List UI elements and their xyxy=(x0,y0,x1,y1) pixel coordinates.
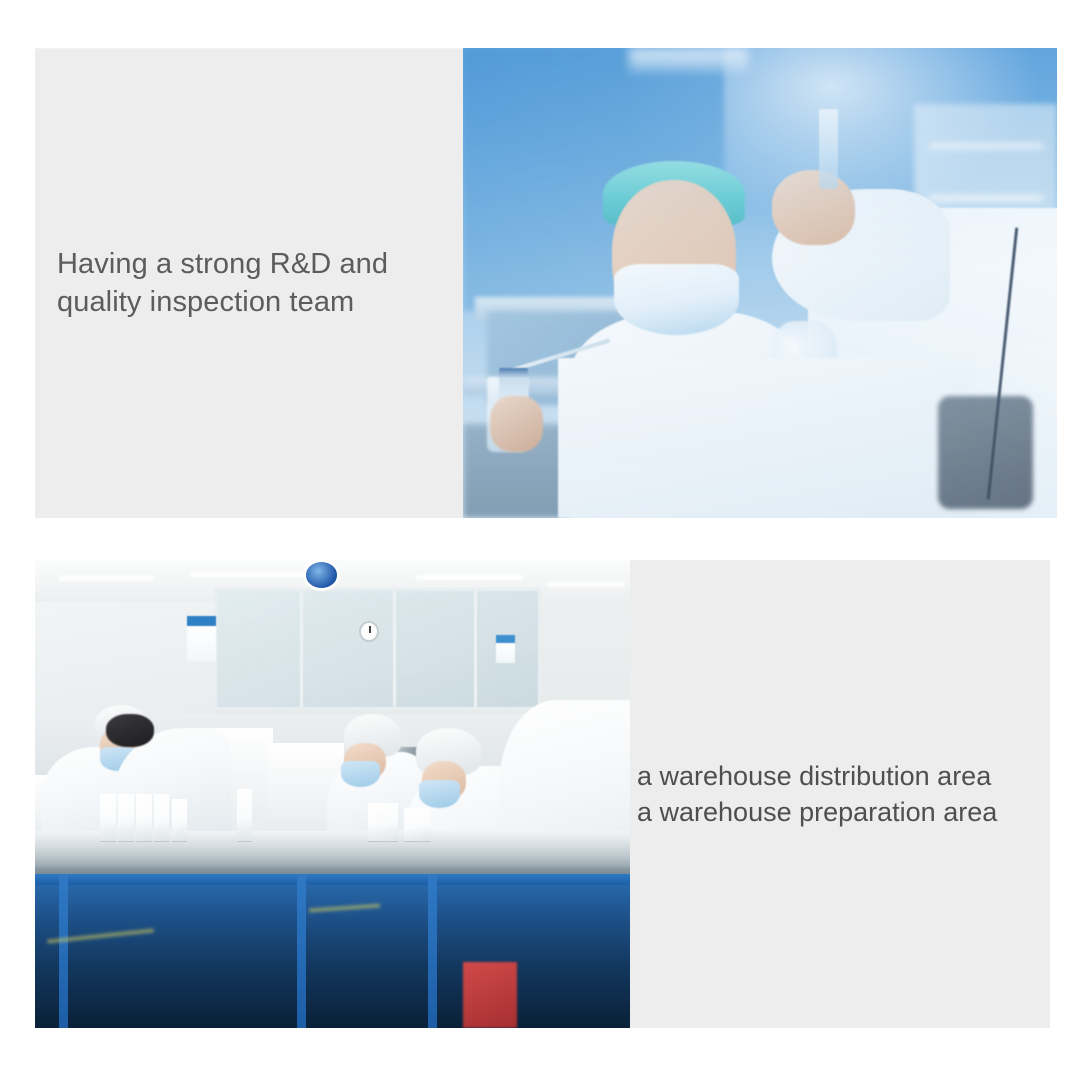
warehouse-packing-photo xyxy=(35,560,630,1028)
info-placard xyxy=(496,635,515,663)
product-box xyxy=(118,794,133,841)
ceiling-light-tube xyxy=(59,576,154,581)
lab-stool xyxy=(938,396,1033,509)
table-frame-leg xyxy=(428,874,438,1028)
worker-mask xyxy=(419,780,461,808)
warehouse-floor xyxy=(35,874,630,1028)
caption-panel-rd-quality: Having a strong R&D and quality inspecti… xyxy=(35,48,463,518)
product-box xyxy=(100,794,115,841)
product-box xyxy=(172,799,187,841)
product-bottle xyxy=(237,789,251,840)
section-warehouse: a warehouse distribution area a warehous… xyxy=(35,560,1050,1028)
ceiling-light-tube xyxy=(547,582,624,587)
product-box xyxy=(136,794,151,841)
technician-lower-hand xyxy=(490,396,543,452)
caption-rd-quality: Having a strong R&D and quality inspecti… xyxy=(57,246,388,320)
red-crate xyxy=(463,962,517,1028)
worker-mask xyxy=(341,761,380,787)
lab-coat-lower xyxy=(558,358,974,518)
worker-hair xyxy=(106,714,154,747)
table-frame-rail xyxy=(35,874,630,885)
product-box xyxy=(404,808,431,841)
ceiling-light xyxy=(629,48,748,72)
table-frame-leg xyxy=(297,874,307,1028)
technician-left-mask xyxy=(614,264,739,335)
product-box xyxy=(368,803,398,840)
cleanroom-window xyxy=(214,588,541,710)
info-placard xyxy=(187,616,217,660)
technician-right-hand xyxy=(772,170,855,245)
lab-quality-inspection-photo xyxy=(463,48,1057,518)
page-root: Having a strong R&D and quality inspecti… xyxy=(0,0,1080,1080)
caption-warehouse: a warehouse distribution area a warehous… xyxy=(637,758,997,831)
product-box xyxy=(154,794,169,841)
ceiling-light-tube xyxy=(416,575,523,580)
section-rd-quality: Having a strong R&D and quality inspecti… xyxy=(35,48,1057,518)
blue-circular-sign xyxy=(306,562,337,587)
table-frame-leg xyxy=(59,874,69,1028)
ceiling-light-tube xyxy=(190,572,321,577)
caption-panel-warehouse: a warehouse distribution area a warehous… xyxy=(630,560,1050,1028)
glass-vial xyxy=(819,109,838,189)
